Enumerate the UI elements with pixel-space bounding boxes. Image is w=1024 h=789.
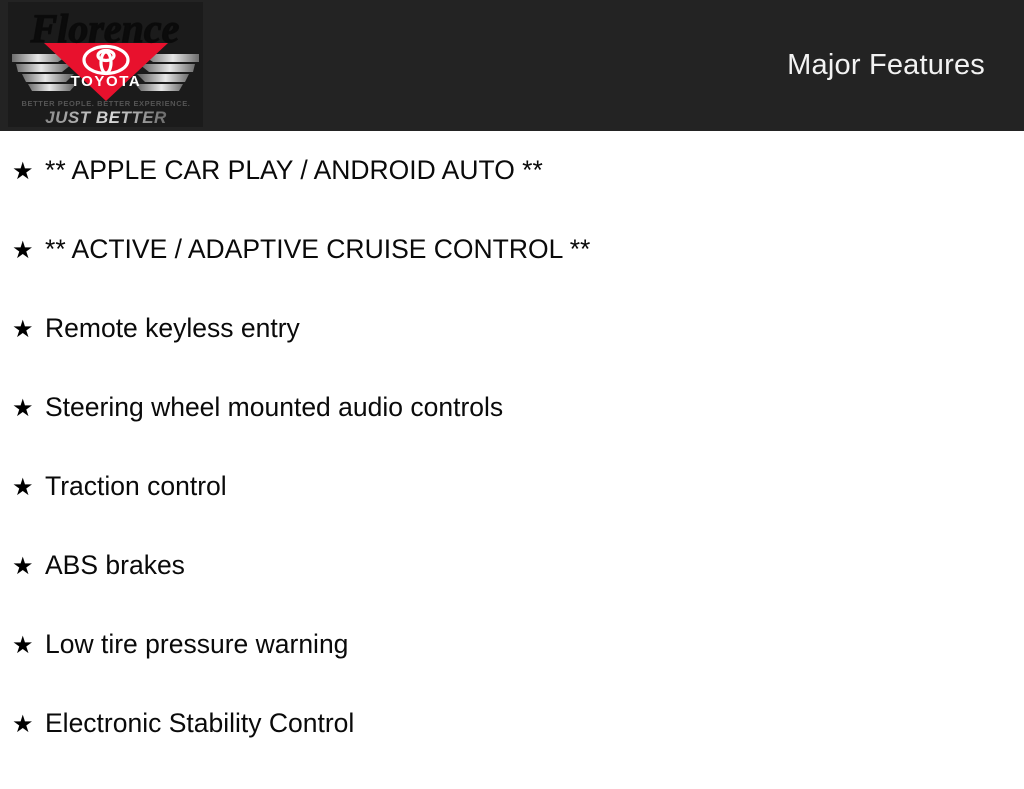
list-item: ★ Electronic Stability Control (0, 710, 1024, 789)
page-title: Major Features (787, 0, 985, 131)
main-content: ★ ** APPLE CAR PLAY / ANDROID AUTO ** ★ … (0, 131, 1024, 789)
florence-script: Florence (30, 6, 180, 51)
list-item: ★ ABS brakes (0, 552, 1024, 631)
toyota-wordmark: TOYOTA (71, 73, 142, 90)
list-item: ★ Traction control (0, 473, 1024, 552)
feature-label: ** APPLE CAR PLAY / ANDROID AUTO ** (45, 157, 543, 184)
star-icon: ★ (12, 160, 45, 184)
feature-label: Steering wheel mounted audio controls (45, 394, 503, 421)
dealer-logo-graphic: TOYOTA Florence BETTER PEOPLE. BETTER EX… (8, 2, 203, 127)
star-icon: ★ (12, 397, 45, 421)
star-icon: ★ (12, 713, 45, 737)
logo-tagline-top: BETTER PEOPLE. BETTER EXPERIENCE. (22, 99, 191, 108)
feature-label: Traction control (45, 473, 227, 500)
feature-label: ** ACTIVE / ADAPTIVE CRUISE CONTROL ** (45, 236, 590, 263)
logo-tagline-bottom: JUST BETTER (45, 108, 167, 127)
list-item: ★ Remote keyless entry (0, 315, 1024, 394)
features-list: ★ ** APPLE CAR PLAY / ANDROID AUTO ** ★ … (0, 131, 1024, 789)
list-item: ★ ** APPLE CAR PLAY / ANDROID AUTO ** (0, 131, 1024, 236)
feature-label: Electronic Stability Control (45, 710, 354, 737)
star-icon: ★ (12, 239, 45, 263)
star-icon: ★ (12, 555, 45, 579)
star-icon: ★ (12, 318, 45, 342)
page-header: TOYOTA Florence BETTER PEOPLE. BETTER EX… (0, 0, 1024, 131)
feature-label: ABS brakes (45, 552, 185, 579)
star-icon: ★ (12, 634, 45, 658)
list-item: ★ Steering wheel mounted audio controls (0, 394, 1024, 473)
feature-label: Remote keyless entry (45, 315, 300, 342)
dealer-logo[interactable]: TOYOTA Florence BETTER PEOPLE. BETTER EX… (8, 2, 203, 127)
list-item: ★ Low tire pressure warning (0, 631, 1024, 710)
feature-label: Low tire pressure warning (45, 631, 348, 658)
list-item: ★ ** ACTIVE / ADAPTIVE CRUISE CONTROL ** (0, 236, 1024, 315)
star-icon: ★ (12, 476, 45, 500)
